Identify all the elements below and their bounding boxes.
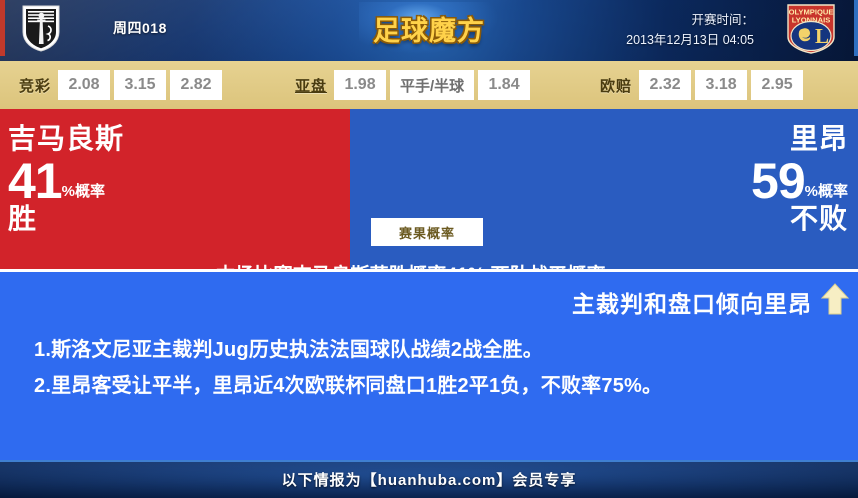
odds-cell-jingcai-away[interactable]: 2.82 — [170, 70, 222, 100]
list-item: 1.斯洛文尼亚主裁判Jug历史执法法国球队战绩2战全胜。 — [34, 332, 834, 368]
odds-cell-asian-handicap[interactable]: 平手/半球 — [390, 70, 474, 100]
tips-heading: 主裁判和盘口倾向里昂 — [572, 285, 812, 319]
odds-cell-asian-away[interactable]: 1.84 — [478, 70, 530, 100]
away-team-crest-icon: OLYMPIQUE LYONNAIS L — [778, 3, 844, 55]
brand-title: 足球魔方 — [373, 9, 485, 48]
home-probability-suffix: %概率 — [62, 184, 105, 206]
tab-result-probability[interactable]: 赛果概率 — [371, 218, 483, 246]
kickoff-label: 开赛时间： — [626, 10, 754, 30]
home-team-name: 吉马良斯 — [8, 123, 168, 155]
header-right-accent — [854, 0, 858, 56]
odds-cell-european-away[interactable]: 2.95 — [751, 70, 803, 100]
probability-panel: 吉马良斯 41 %概率 胜 里昂 59 %概率 不败 赛果概率 本场比赛吉马良斯… — [0, 109, 858, 269]
match-header: 周四018 足球魔方 开赛时间： 2013年12月13日 04:05 OLYMP… — [0, 0, 858, 61]
tips-top-divider — [0, 269, 858, 272]
home-probability-block: 吉马良斯 41 %概率 胜 — [8, 123, 168, 234]
kickoff-time-block: 开赛时间： 2013年12月13日 04:05 — [626, 10, 754, 50]
kickoff-value: 2013年12月13日 04:05 — [626, 30, 754, 50]
tips-list: 1.斯洛文尼亚主裁判Jug历史执法法国球队战绩2战全胜。 2.里昂客受让平半，里… — [34, 332, 834, 404]
away-probability-value: 59 — [751, 156, 805, 206]
odds-group-jingcai: 竞彩 2.08 3.15 2.82 — [19, 70, 226, 100]
odds-cell-european-draw[interactable]: 3.18 — [695, 70, 747, 100]
away-probability-block: 里昂 59 %概率 不败 — [658, 123, 848, 234]
home-probability-value-row: 41 %概率 — [8, 156, 168, 206]
odds-cell-european-home[interactable]: 2.32 — [639, 70, 691, 100]
match-id-label: 周四018 — [113, 18, 167, 38]
header-left-accent — [0, 0, 5, 56]
home-probability-verdict: 胜 — [8, 204, 168, 234]
odds-label-asian[interactable]: 亚盘 — [295, 75, 327, 96]
away-team-name: 里昂 — [658, 123, 848, 155]
arrow-up-icon — [820, 282, 850, 316]
tips-panel: 主裁判和盘口倾向里昂 1.斯洛文尼亚主裁判Jug历史执法法国球队战绩2战全胜。 … — [0, 269, 858, 460]
list-item: 2.里昂客受让平半，里昂近4次欧联杯同盘口1胜2平1负，不败率75%。 — [34, 368, 834, 404]
odds-cell-jingcai-draw[interactable]: 3.15 — [114, 70, 166, 100]
odds-group-asian: 亚盘 1.98 平手/半球 1.84 — [295, 70, 534, 100]
odds-bar: 竞彩 2.08 3.15 2.82 亚盘 1.98 平手/半球 1.84 欧赔 … — [0, 61, 858, 109]
odds-group-european: 欧赔 2.32 3.18 2.95 — [600, 70, 807, 100]
footer-top-divider — [0, 460, 858, 462]
match-analysis-card: 周四018 足球魔方 开赛时间： 2013年12月13日 04:05 OLYMP… — [0, 0, 858, 498]
footer-notice: 以下情报为【huanhuba.com】会员专享 — [282, 469, 577, 490]
footer-bar: 以下情报为【huanhuba.com】会员专享 — [0, 460, 858, 498]
svg-text:L: L — [815, 24, 829, 48]
home-probability-value: 41 — [8, 156, 62, 206]
odds-label-jingcai: 竞彩 — [19, 75, 51, 96]
home-team-crest-icon — [21, 4, 61, 52]
brand-logo: 足球魔方 — [359, 2, 499, 54]
away-probability-value-row: 59 %概率 — [658, 156, 848, 206]
odds-cell-asian-home[interactable]: 1.98 — [334, 70, 386, 100]
odds-cell-jingcai-home[interactable]: 2.08 — [58, 70, 110, 100]
odds-label-european: 欧赔 — [600, 75, 632, 96]
